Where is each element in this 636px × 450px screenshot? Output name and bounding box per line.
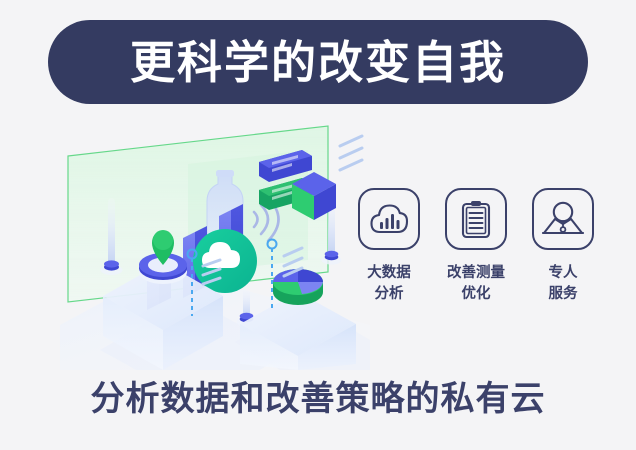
feature-dedicated-service[interactable]: 专人 服务 [526,188,600,305]
isometric-illustration [40,120,370,370]
feature-list: 大数据 分析 改善测量 优化 [352,188,600,328]
cloud-bar-chart-icon [358,188,420,250]
feature-label: 专人 服务 [549,263,578,305]
feature-measurement-optimization[interactable]: 改善测量 优化 [439,188,513,305]
page-title: 更科学的改变自我 [130,40,506,85]
feature-big-data-analysis[interactable]: 大数据 分析 [352,188,426,305]
pie-chart-3d [273,269,323,305]
poster-canvas: 更科学的改变自我 [0,0,636,450]
feature-label: 改善测量 优化 [447,263,505,305]
support-agent-icon [532,188,594,250]
feature-label: 大数据 分析 [367,263,411,305]
clipboard-icon [445,188,507,250]
title-banner: 更科学的改变自我 [48,20,588,104]
tagline: 分析数据和改善策略的私有云 [0,382,636,416]
